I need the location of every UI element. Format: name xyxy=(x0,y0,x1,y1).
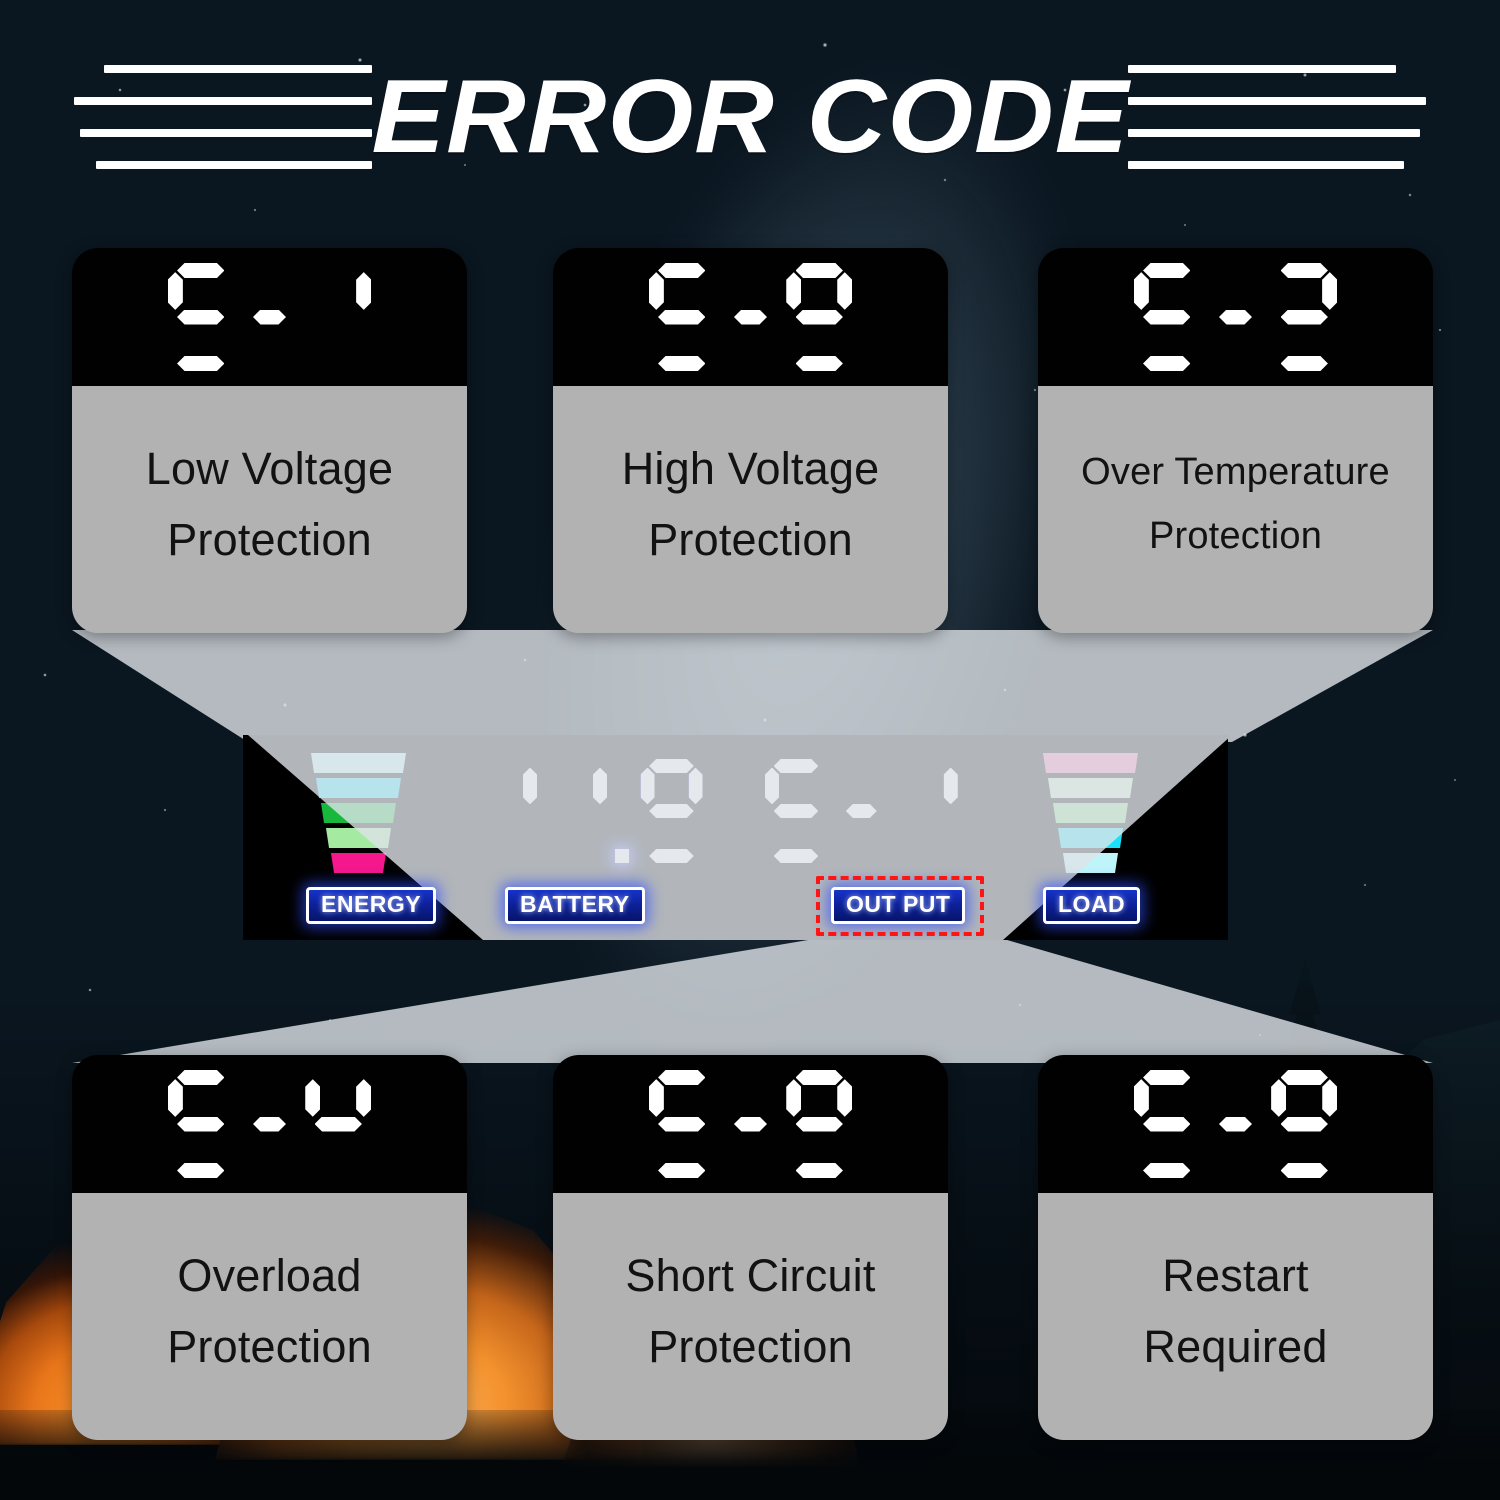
seven-segment-char xyxy=(168,1070,234,1178)
card-body-e1: Low Voltage Protection xyxy=(72,386,467,633)
deco-line xyxy=(96,161,372,169)
lcd-header-e5 xyxy=(553,1055,948,1193)
card-body-e2: High Voltage Protection xyxy=(553,386,948,633)
seven-segment-dash xyxy=(1212,1070,1260,1178)
card-body-e4: Overload Protection xyxy=(72,1193,467,1440)
header: ERROR CODE xyxy=(0,52,1500,182)
card-line-2: Protection xyxy=(167,1324,372,1369)
badge-load[interactable]: LOAD xyxy=(1043,887,1140,924)
seven-segment-e5 xyxy=(649,1070,853,1178)
lcd-header-e6 xyxy=(1038,1055,1433,1193)
title-decoration-left xyxy=(72,65,372,169)
seven-segment-dash xyxy=(246,1070,294,1178)
lcd-meter-panel[interactable]: ENERGY BATTERY OUT PUT LOAD xyxy=(243,735,1228,940)
seven-segment-char xyxy=(1271,263,1337,371)
seven-segment-e1 xyxy=(168,263,372,371)
card-body-e5: Short Circuit Protection xyxy=(553,1193,948,1440)
lcd-header-e1 xyxy=(72,248,467,386)
card-body-e6: Restart Required xyxy=(1038,1193,1433,1440)
deco-line xyxy=(1128,65,1396,73)
lcd-header-e3 xyxy=(1038,248,1433,386)
card-line-1: Short Circuit xyxy=(625,1253,875,1298)
card-line-1: Overload xyxy=(177,1253,361,1298)
deco-line xyxy=(104,65,372,73)
seven-segment-char xyxy=(1134,1070,1200,1178)
error-card-e4[interactable]: Overload Protection xyxy=(72,1055,467,1440)
card-line-1: High Voltage xyxy=(622,446,880,491)
lcd-header-e2 xyxy=(553,248,948,386)
seven-segment-dash xyxy=(727,263,775,371)
error-card-e2[interactable]: High Voltage Protection xyxy=(553,248,948,633)
error-card-e6[interactable]: Restart Required xyxy=(1038,1055,1433,1440)
output-highlight-box xyxy=(816,876,984,936)
seven-segment-char xyxy=(1271,1070,1337,1178)
deco-line xyxy=(80,129,372,137)
card-line-1: Low Voltage xyxy=(146,446,393,491)
deco-line xyxy=(1128,161,1404,169)
card-line-2: Protection xyxy=(648,517,853,562)
error-card-e3[interactable]: Over Temperature Protection xyxy=(1038,248,1433,633)
card-body-e3: Over Temperature Protection xyxy=(1038,386,1433,633)
card-line-1: Over Temperature xyxy=(1081,453,1390,491)
title-decoration-right xyxy=(1128,65,1428,169)
seven-segment-char xyxy=(786,1070,852,1178)
seven-segment-char xyxy=(649,1070,715,1178)
seven-segment-char xyxy=(305,1070,371,1178)
seven-segment-dash xyxy=(1212,263,1260,371)
card-line-2: Required xyxy=(1143,1324,1327,1369)
deco-line xyxy=(74,97,372,105)
card-line-2: Protection xyxy=(1149,517,1322,555)
seven-segment-char xyxy=(1134,263,1200,371)
seven-segment-char xyxy=(168,263,234,371)
seven-segment-e2 xyxy=(649,263,853,371)
card-line-2: Protection xyxy=(648,1324,853,1369)
seven-segment-e6 xyxy=(1134,1070,1338,1178)
seven-segment-dash xyxy=(727,1070,775,1178)
error-code-infographic: ERROR CODE Low Voltage Protection High V… xyxy=(0,0,1500,1500)
deco-line xyxy=(1128,129,1420,137)
seven-segment-e3 xyxy=(1134,263,1338,371)
seven-segment-char xyxy=(305,263,371,371)
card-line-2: Protection xyxy=(167,517,372,562)
seven-segment-dash xyxy=(246,263,294,371)
bargraph-segment xyxy=(331,853,386,873)
lcd-header-e4 xyxy=(72,1055,467,1193)
page-title: ERROR CODE xyxy=(371,58,1129,177)
error-card-e1[interactable]: Low Voltage Protection xyxy=(72,248,467,633)
deco-line xyxy=(1128,97,1426,105)
badge-energy[interactable]: ENERGY xyxy=(306,887,436,924)
badge-battery[interactable]: BATTERY xyxy=(505,887,645,924)
seven-segment-e4 xyxy=(168,1070,372,1178)
error-card-e5[interactable]: Short Circuit Protection xyxy=(553,1055,948,1440)
card-line-1: Restart xyxy=(1162,1253,1308,1298)
seven-segment-char xyxy=(786,263,852,371)
seven-segment-char xyxy=(649,263,715,371)
